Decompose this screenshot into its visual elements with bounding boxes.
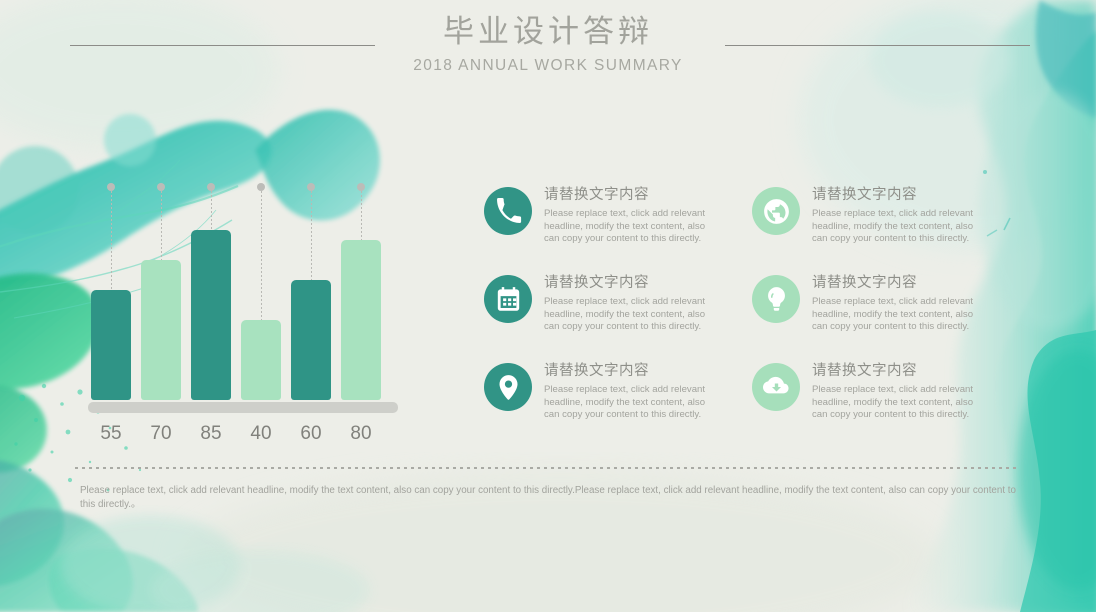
bar-chart-bar (291, 280, 331, 400)
bar-leader-line (261, 191, 262, 320)
cloud-download-icon (752, 363, 800, 411)
bar-marker-dot (207, 183, 215, 191)
bar-marker-dot (257, 183, 265, 191)
feature-item[interactable]: 请替换文字内容Please replace text, click add re… (752, 186, 984, 258)
bar-chart-axis (88, 402, 398, 413)
feature-title: 请替换文字内容 (544, 274, 649, 293)
bar-chart: 557085406080 (88, 180, 398, 445)
calendar-icon (484, 275, 532, 323)
feature-item[interactable]: 请替换文字内容Please replace text, click add re… (484, 186, 716, 258)
bar-chart-bar (91, 290, 131, 400)
globe-icon (752, 187, 800, 235)
feature-body: Please replace text, click add relevant … (544, 296, 716, 334)
bar-column (291, 180, 331, 400)
bar-value-label: 85 (191, 420, 231, 448)
page-subtitle: 2018 ANNUAL WORK SUMMARY (0, 57, 1096, 75)
feature-body: Please replace text, click add relevant … (812, 208, 984, 246)
feature-title: 请替换文字内容 (544, 362, 649, 381)
bar-chart-bars (88, 180, 398, 400)
page-title: 毕业设计答辩 (0, 12, 1096, 52)
bar-value-label: 70 (141, 420, 181, 448)
bar-leader-line (361, 191, 362, 240)
bar-leader-line (211, 191, 212, 230)
bar-chart-bar (191, 230, 231, 400)
location-pin-icon (484, 363, 532, 411)
feature-title: 请替换文字内容 (544, 186, 649, 205)
bar-value-label: 55 (91, 420, 131, 448)
feature-list: 请替换文字内容Please replace text, click add re… (484, 186, 984, 416)
footer-note: Please replace text, click add relevant … (80, 484, 1030, 512)
phone-icon (484, 187, 532, 235)
bar-column (91, 180, 131, 400)
bar-chart-bar (341, 240, 381, 400)
bar-chart-labels: 557085406080 (88, 420, 398, 450)
bar-column (341, 180, 381, 400)
bar-marker-dot (107, 183, 115, 191)
bar-chart-bar (241, 320, 281, 400)
bar-value-label: 80 (341, 420, 381, 448)
bar-value-label: 40 (241, 420, 281, 448)
page-header: 毕业设计答辩 2018 ANNUAL WORK SUMMARY (0, 0, 1096, 92)
bar-marker-dot (157, 183, 165, 191)
lightbulb-icon (752, 275, 800, 323)
feature-body: Please replace text, click add relevant … (812, 384, 984, 422)
bar-leader-line (161, 191, 162, 260)
feature-title: 请替换文字内容 (812, 186, 917, 205)
bar-column (241, 180, 281, 400)
feature-item[interactable]: 请替换文字内容Please replace text, click add re… (752, 362, 984, 434)
feature-title: 请替换文字内容 (812, 274, 917, 293)
feature-item[interactable]: 请替换文字内容Please replace text, click add re… (484, 362, 716, 434)
footer-dotted-divider (75, 467, 1020, 469)
bar-value-label: 60 (291, 420, 331, 448)
feature-body: Please replace text, click add relevant … (544, 384, 716, 422)
feature-body: Please replace text, click add relevant … (544, 208, 716, 246)
bar-column (141, 180, 181, 400)
bar-column (191, 180, 231, 400)
feature-item[interactable]: 请替换文字内容Please replace text, click add re… (484, 274, 716, 346)
feature-body: Please replace text, click add relevant … (812, 296, 984, 334)
bar-marker-dot (307, 183, 315, 191)
bar-leader-line (311, 191, 312, 280)
bar-marker-dot (357, 183, 365, 191)
feature-title: 请替换文字内容 (812, 362, 917, 381)
bar-leader-line (111, 191, 112, 290)
feature-item[interactable]: 请替换文字内容Please replace text, click add re… (752, 274, 984, 346)
bar-chart-bar (141, 260, 181, 400)
